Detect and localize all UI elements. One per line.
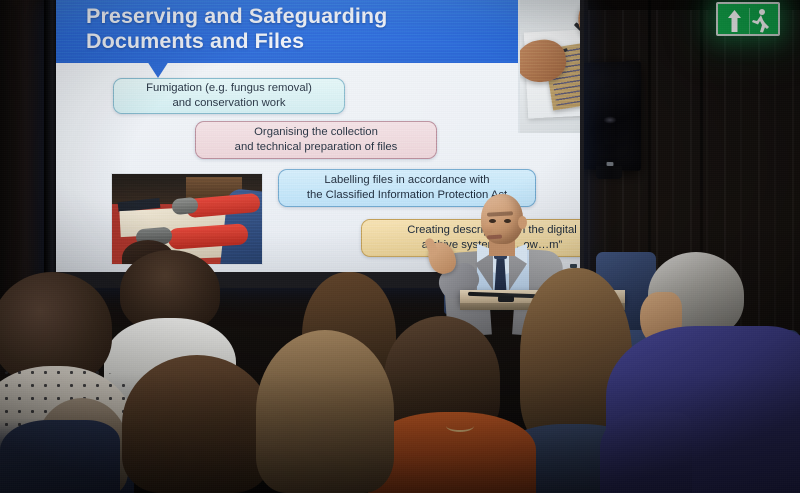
presentation-photo: Preserving and Safeguarding Documents an… (0, 0, 800, 493)
audience-arm (600, 412, 692, 493)
up-arrow-icon (727, 9, 742, 33)
presenter-nose (484, 223, 493, 233)
audience-head (122, 355, 272, 493)
audience-body (0, 420, 120, 493)
emergency-exit-sign (716, 2, 780, 36)
slide-title: Preserving and Safeguarding Documents an… (86, 4, 506, 54)
speaker-bracket (596, 166, 622, 179)
callout-labelling-line-1: Labelling files in accordance with (307, 173, 507, 188)
callout-organising-line-1: Organising the collection (235, 125, 398, 140)
slide-title-line-1: Preserving and Safeguarding (86, 4, 387, 28)
presenter-eye-right (504, 219, 511, 223)
audience-head (256, 330, 394, 493)
callout-fumigation-line-2: and conservation work (146, 96, 312, 111)
slide-image-conservation (518, 0, 580, 133)
callout-pointer-tail (147, 61, 169, 78)
callout-fumigation: Fumigation (e.g. fungus removal) and con… (113, 78, 345, 114)
slide-title-line-2: Documents and Files (86, 29, 304, 53)
pa-loudspeaker (579, 61, 641, 171)
bottle-cap (570, 264, 577, 268)
callout-organising-line-2: and technical preparation of files (235, 140, 398, 155)
wall-left-dark (0, 0, 44, 300)
presenter-ear (518, 216, 527, 229)
presenter-clicker (498, 296, 514, 302)
audience-body (726, 418, 800, 493)
audience-necklace (446, 420, 474, 432)
running-person-icon (749, 8, 771, 34)
screen-bezel-left (44, 0, 56, 288)
callout-fumigation-line-1: Fumigation (e.g. fungus removal) (146, 81, 312, 96)
slide-image-archive-work (111, 173, 263, 265)
callout-organising: Organising the collection and technical … (195, 121, 437, 159)
